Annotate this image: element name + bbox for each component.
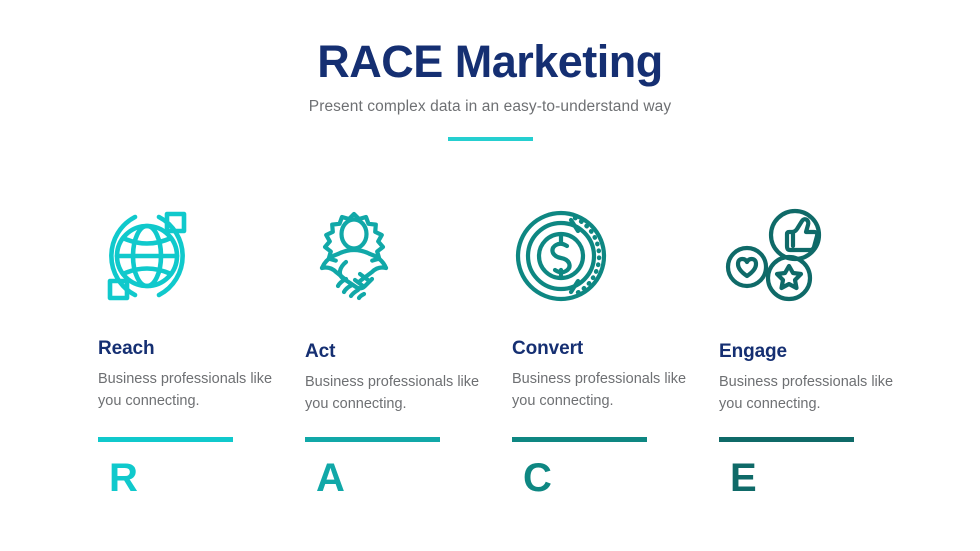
race-column-engage: Engage Business professionals like you c… — [716, 195, 923, 498]
race-letter: C — [509, 442, 716, 498]
page-title: RACE Marketing — [0, 0, 980, 87]
race-letter: R — [95, 442, 302, 498]
race-column-act: Act Business professionals like you conn… — [302, 195, 509, 498]
race-columns: Reach Business professionals like you co… — [0, 195, 980, 535]
thumbs-up-heart-star-icon — [716, 195, 923, 317]
column-body-text: Business professionals like you connecti… — [302, 361, 485, 416]
column-heading: Convert — [509, 317, 716, 358]
column-heading: Act — [302, 317, 509, 361]
globe-network-icon — [95, 195, 302, 317]
page-subtitle: Present complex data in an easy-to-under… — [0, 87, 980, 116]
race-letter: A — [302, 442, 509, 498]
title-divider — [448, 137, 533, 141]
column-body-text: Business professionals like you connecti… — [509, 358, 692, 413]
dollar-coin-icon — [509, 195, 716, 317]
column-body-text: Business professionals like you connecti… — [95, 358, 278, 413]
race-column-reach: Reach Business professionals like you co… — [95, 195, 302, 498]
race-column-convert: Convert Business professionals like you … — [509, 195, 716, 498]
handshake-person-icon — [302, 195, 509, 317]
column-body-text: Business professionals like you connecti… — [716, 361, 899, 416]
race-letter: E — [716, 442, 923, 498]
column-heading: Engage — [716, 317, 923, 361]
slide-header: RACE Marketing Present complex data in a… — [0, 0, 980, 141]
column-heading: Reach — [95, 317, 302, 358]
